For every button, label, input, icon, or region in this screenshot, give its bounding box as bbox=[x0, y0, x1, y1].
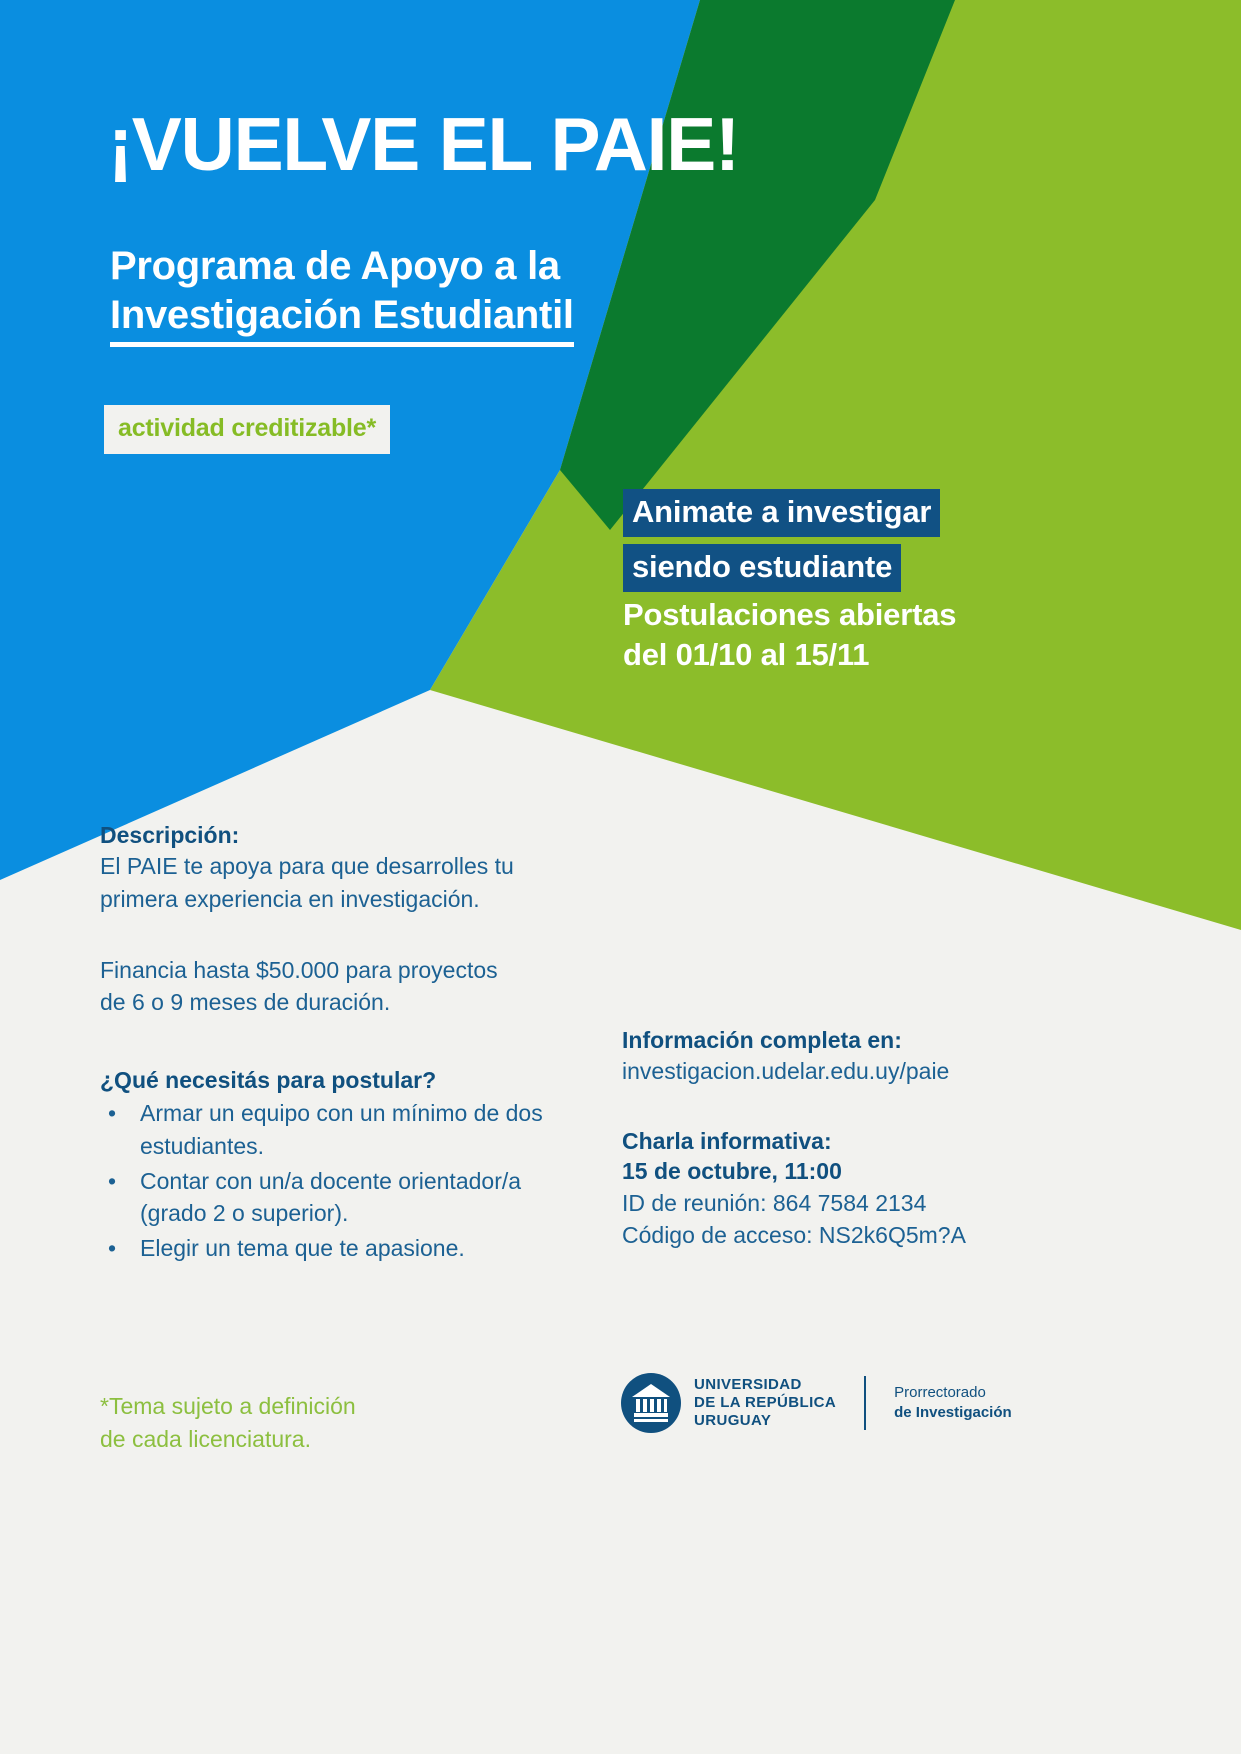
prorrectorado-logo: Prorrectorado de Investigación bbox=[894, 1383, 1012, 1424]
description-paragraph-1-line-2: primera experiencia en investigación. bbox=[100, 883, 570, 916]
dates-line-1: Postulaciones abiertas bbox=[623, 595, 956, 635]
spacer bbox=[100, 916, 570, 954]
list-item-label: Elegir un tema que te apasione. bbox=[140, 1235, 465, 1261]
list-item: • Armar un equipo con un mínimo de dos e… bbox=[100, 1097, 570, 1162]
list-item: • Contar con un/a docente orientador/a (… bbox=[100, 1165, 570, 1230]
prorrectorado-line-1: Prorrectorado bbox=[894, 1383, 1012, 1403]
udelar-logo: UNIVERSIDAD DE LA REPÚBLICA URUGUAY bbox=[620, 1372, 836, 1434]
description-paragraph-2-line-2: de 6 o 9 meses de duración. bbox=[100, 986, 570, 1019]
description-paragraph-1-line-1: El PAIE te apoya para que desarrolles tu bbox=[100, 850, 570, 883]
footnote: *Tema sujeto a definición de cada licenc… bbox=[100, 1390, 520, 1455]
right-column: Información completa en: investigacion.u… bbox=[622, 1025, 1102, 1252]
footer-logos: UNIVERSIDAD DE LA REPÚBLICA URUGUAY Pror… bbox=[620, 1372, 1012, 1434]
highlight-line-2: siendo estudiante bbox=[623, 544, 901, 592]
creditable-badge: actividad creditizable* bbox=[104, 405, 390, 454]
access-code: Código de acceso: NS2k6Q5m?A bbox=[622, 1219, 1102, 1252]
highlight-line-1: Animate a investigar bbox=[623, 489, 940, 537]
bullet-icon: • bbox=[108, 1165, 116, 1198]
subtitle: Programa de Apoyo a la Investigación Est… bbox=[110, 242, 574, 347]
list-item-label: Contar con un/a docente orientador/a (gr… bbox=[140, 1168, 521, 1227]
subtitle-line-2: Investigación Estudiantil bbox=[110, 291, 574, 347]
logo-divider bbox=[864, 1376, 866, 1430]
university-building-icon bbox=[620, 1372, 682, 1434]
callout-highlight: Animate a investigar siendo estudiante bbox=[623, 489, 940, 599]
description-heading: Descripción: bbox=[100, 820, 570, 850]
page-title: ¡VUELVE EL PAIE! bbox=[108, 108, 739, 180]
meeting-id: ID de reunión: 864 7584 2134 bbox=[622, 1187, 1102, 1220]
bullet-icon: • bbox=[108, 1097, 116, 1130]
talk-heading: Charla informativa: bbox=[622, 1126, 1102, 1156]
footnote-line-1: *Tema sujeto a definición bbox=[100, 1390, 520, 1423]
requirements-heading: ¿Qué necesitás para postular? bbox=[100, 1065, 570, 1095]
subtitle-line-1: Programa de Apoyo a la bbox=[110, 242, 574, 291]
udelar-line-2: DE LA REPÚBLICA bbox=[694, 1394, 836, 1412]
list-item: • Elegir un tema que te apasione. bbox=[100, 1232, 570, 1265]
requirements-list: • Armar un equipo con un mínimo de dos e… bbox=[100, 1097, 570, 1264]
prorrectorado-line-2: de Investigación bbox=[894, 1403, 1012, 1423]
left-column: Descripción: El PAIE te apoya para que d… bbox=[100, 820, 570, 1267]
poster-canvas: ¡VUELVE EL PAIE! Programa de Apoyo a la … bbox=[0, 0, 1241, 1754]
info-heading: Información completa en: bbox=[622, 1025, 1102, 1055]
list-item-label: Armar un equipo con un mínimo de dos est… bbox=[140, 1100, 543, 1159]
udelar-wordmark: UNIVERSIDAD DE LA REPÚBLICA URUGUAY bbox=[694, 1376, 836, 1431]
spacer bbox=[100, 1019, 570, 1065]
bullet-icon: • bbox=[108, 1232, 116, 1265]
footnote-line-2: de cada licenciatura. bbox=[100, 1423, 520, 1456]
spacer bbox=[622, 1088, 1102, 1126]
description-paragraph-2-line-1: Financia hasta $50.000 para proyectos bbox=[100, 954, 570, 987]
udelar-line-3: URUGUAY bbox=[694, 1412, 836, 1430]
application-dates: Postulaciones abiertas del 01/10 al 15/1… bbox=[623, 595, 956, 674]
info-url[interactable]: investigacion.udelar.edu.uy/paie bbox=[622, 1055, 1102, 1088]
talk-date: 15 de octubre, 11:00 bbox=[622, 1156, 1102, 1186]
dates-line-2: del 01/10 al 15/11 bbox=[623, 635, 956, 675]
udelar-line-1: UNIVERSIDAD bbox=[694, 1376, 836, 1394]
